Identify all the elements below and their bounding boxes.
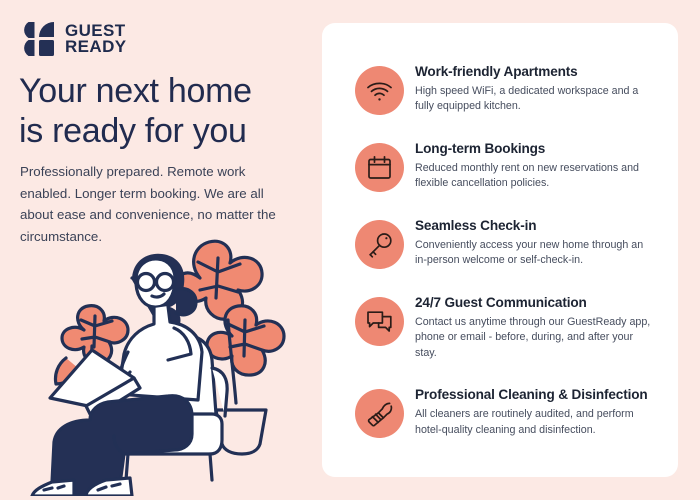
key-icon-badge [355,220,404,269]
headline-line-2: is ready for you [19,112,309,152]
feature-title: Seamless Check-in [415,217,655,235]
feature-text: Professional Cleaning & Disinfection All… [415,385,655,438]
feature-text: Work-friendly Apartments High speed WiFi… [415,62,655,115]
woman-with-laptop-illustration-icon [28,228,318,496]
feature-text: Seamless Check-in Conveniently access yo… [415,216,655,269]
feature-text: Long-term Bookings Reduced monthly rent … [415,139,655,192]
feature-description: Reduced monthly rent on new reservations… [415,161,655,192]
brand-logo[interactable]: GUEST READY [18,21,127,57]
feature-description: All cleaners are routinely audited, and … [415,407,655,438]
feature-item-seamless-check-in[interactable]: Seamless Check-in Conveniently access yo… [355,216,655,269]
feature-text: 24/7 Guest Communication Contact us anyt… [415,293,655,361]
feature-item-long-term-bookings[interactable]: Long-term Bookings Reduced monthly rent … [355,139,655,192]
chat-bubbles-icon [366,310,393,334]
features-card: Work-friendly Apartments High speed WiFi… [322,23,678,477]
chat-bubbles-icon-badge [355,297,404,346]
feature-item-professional-cleaning[interactable]: Professional Cleaning & Disinfection All… [355,385,655,438]
feature-title: Long-term Bookings [415,140,655,158]
feature-item-work-friendly-apartments[interactable]: Work-friendly Apartments High speed WiFi… [355,62,655,115]
page-title: Your next home is ready for you [19,72,309,152]
feature-description: Conveniently access your new home throug… [415,238,655,269]
feature-title: Professional Cleaning & Disinfection [415,386,655,404]
feature-list: Work-friendly Apartments High speed WiFi… [355,62,655,438]
brand-wordmark: GUEST READY [65,23,127,54]
wifi-icon-badge [355,66,404,115]
feature-title: 24/7 Guest Communication [415,294,655,312]
feature-description: High speed WiFi, a dedicated workspace a… [415,84,655,115]
feature-title: Work-friendly Apartments [415,63,655,81]
key-icon [367,232,393,258]
calendar-icon-badge [355,143,404,192]
wifi-icon [366,79,393,103]
headline-line-1: Your next home [19,72,309,112]
calendar-icon [367,155,392,180]
feature-description: Contact us anytime through our GuestRead… [415,315,655,362]
hero-illustration [28,228,318,496]
hero-column: GUEST READY Your next home is ready for … [0,0,320,500]
broom-icon-badge [355,389,404,438]
broom-icon [367,401,393,427]
guestready-grid-logo-icon [18,21,56,57]
brand-line-2: READY [65,39,127,55]
feature-item-guest-communication[interactable]: 24/7 Guest Communication Contact us anyt… [355,293,655,361]
